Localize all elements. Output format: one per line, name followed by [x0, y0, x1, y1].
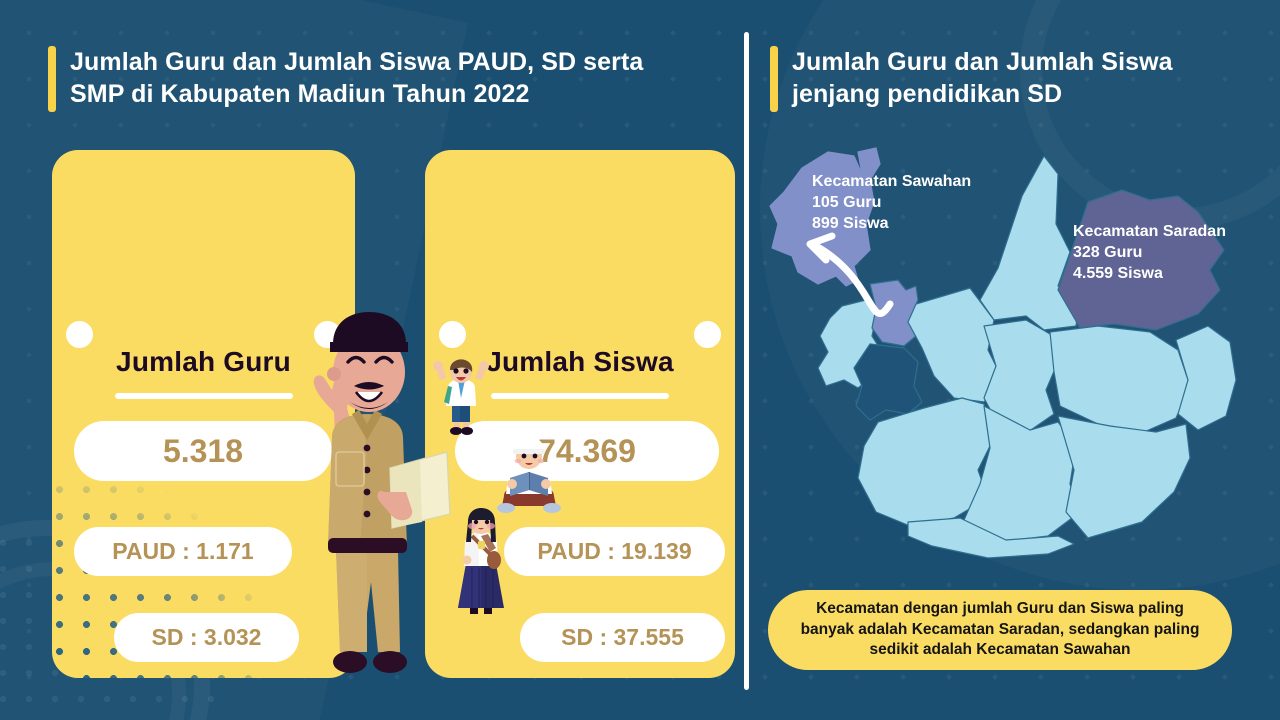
map-label-saradan: Kecamatan Saradan 328 Guru 4.559 Siswa	[1073, 222, 1226, 284]
panel-divider	[744, 32, 749, 690]
guru-paud-value: PAUD : 1.171	[74, 527, 292, 576]
card-underline-guru	[115, 393, 293, 399]
map-region-dark	[854, 344, 922, 420]
siswa-sd-value: SD : 37.555	[520, 613, 725, 662]
map-region-east-center	[1050, 326, 1190, 432]
right-panel-header: Jumlah Guru dan Jumlah Siswa jenjang pen…	[770, 46, 1240, 112]
page-title-left: Jumlah Guru dan Jumlah Siswa PAUD, SD se…	[70, 46, 643, 110]
teacher-illustration	[272, 300, 462, 700]
summary-note-text: Kecamatan dengan jumlah Guru dan Siswa p…	[788, 599, 1212, 662]
map-label-sawahan-name: Kecamatan Sawahan	[812, 172, 971, 193]
accent-bar-left	[48, 46, 56, 112]
map-region-north-central	[980, 156, 1080, 330]
card-underline-siswa	[491, 393, 669, 399]
map-label-sawahan: Kecamatan Sawahan 105 Guru 899 Siswa	[812, 172, 971, 234]
accent-bar-right	[770, 46, 778, 112]
map-label-sawahan-students: 899 Siswa	[812, 214, 971, 235]
card-punch-hole-right	[694, 321, 721, 348]
map-label-saradan-name: Kecamatan Saradan	[1073, 222, 1226, 243]
map-label-saradan-students: 4.559 Siswa	[1073, 264, 1226, 285]
map-label-sawahan-teachers: 105 Guru	[812, 193, 971, 214]
summary-note-box: Kecamatan dengan jumlah Guru dan Siswa p…	[768, 590, 1232, 670]
left-panel-header: Jumlah Guru dan Jumlah Siswa PAUD, SD se…	[48, 46, 708, 112]
map-label-saradan-teachers: 328 Guru	[1073, 243, 1226, 264]
siswa-paud-value: PAUD : 19.139	[504, 527, 725, 576]
page-title-right: Jumlah Guru dan Jumlah Siswa jenjang pen…	[792, 46, 1173, 110]
card-punch-hole-left	[66, 321, 93, 348]
map-region-lower-right	[1058, 416, 1190, 538]
